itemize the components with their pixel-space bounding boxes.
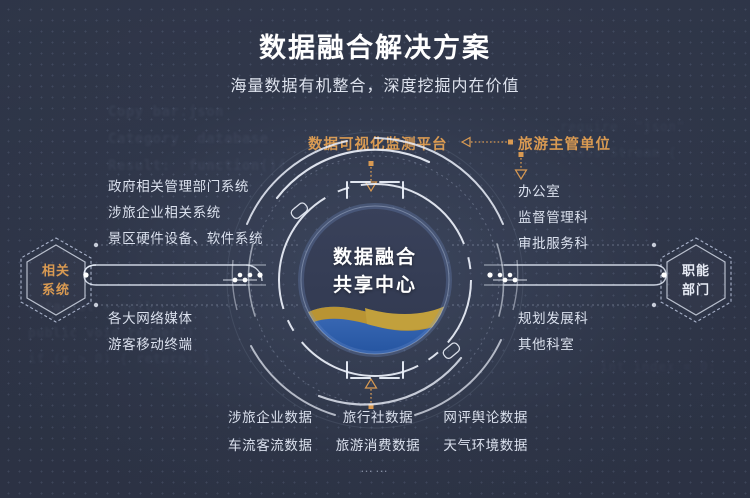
table-row: 车流客流数据 旅游消费数据 天气环境数据 [228, 432, 528, 460]
core-label: 数据融合 共享中心 [215, 244, 535, 300]
list-item: 监督管理科 [518, 205, 589, 231]
column-right-top: 办公室 监督管理科 审批服务科 [518, 179, 589, 257]
list-item: 各大网络媒体 [108, 306, 193, 332]
column-left-bottom: 各大网络媒体 游客移动终端 [108, 306, 193, 358]
data-cell: 旅游消费数据 [336, 432, 421, 460]
bottom-data-grid: 涉旅企业数据 旅行社数据 网评舆论数据 车流客流数据 旅游消费数据 天气环境数据 [228, 404, 528, 460]
list-item: 其他科室 [518, 332, 589, 358]
data-cell: 旅行社数据 [343, 404, 414, 432]
list-item: 景区硬件设备、软件系统 [108, 226, 263, 252]
infographic-canvas: Copy bar.json Category database Result: … [0, 0, 750, 498]
data-cell: 天气环境数据 [443, 432, 528, 460]
list-item: 游客移动终端 [108, 332, 193, 358]
list-item: 涉旅企业相关系统 [108, 200, 263, 226]
list-item: 规划发展科 [518, 306, 589, 332]
data-cell: 涉旅企业数据 [228, 404, 313, 432]
core-line2: 共享中心 [215, 272, 535, 300]
data-cell: 车流客流数据 [228, 432, 313, 460]
bottom-ellipsis: …… [0, 460, 750, 475]
data-fusion-core[interactable]: 数据融合 共享中心 [215, 120, 535, 440]
data-cell: 网评舆论数据 [443, 404, 528, 432]
list-item: 办公室 [518, 179, 589, 205]
column-left-top: 政府相关管理部门系统 涉旅企业相关系统 景区硬件设备、软件系统 [108, 174, 263, 252]
table-row: 涉旅企业数据 旅行社数据 网评舆论数据 [228, 404, 528, 432]
list-item: 审批服务科 [518, 231, 589, 257]
column-right-bottom: 规划发展科 其他科室 [518, 306, 589, 358]
list-item: 政府相关管理部门系统 [108, 174, 263, 200]
